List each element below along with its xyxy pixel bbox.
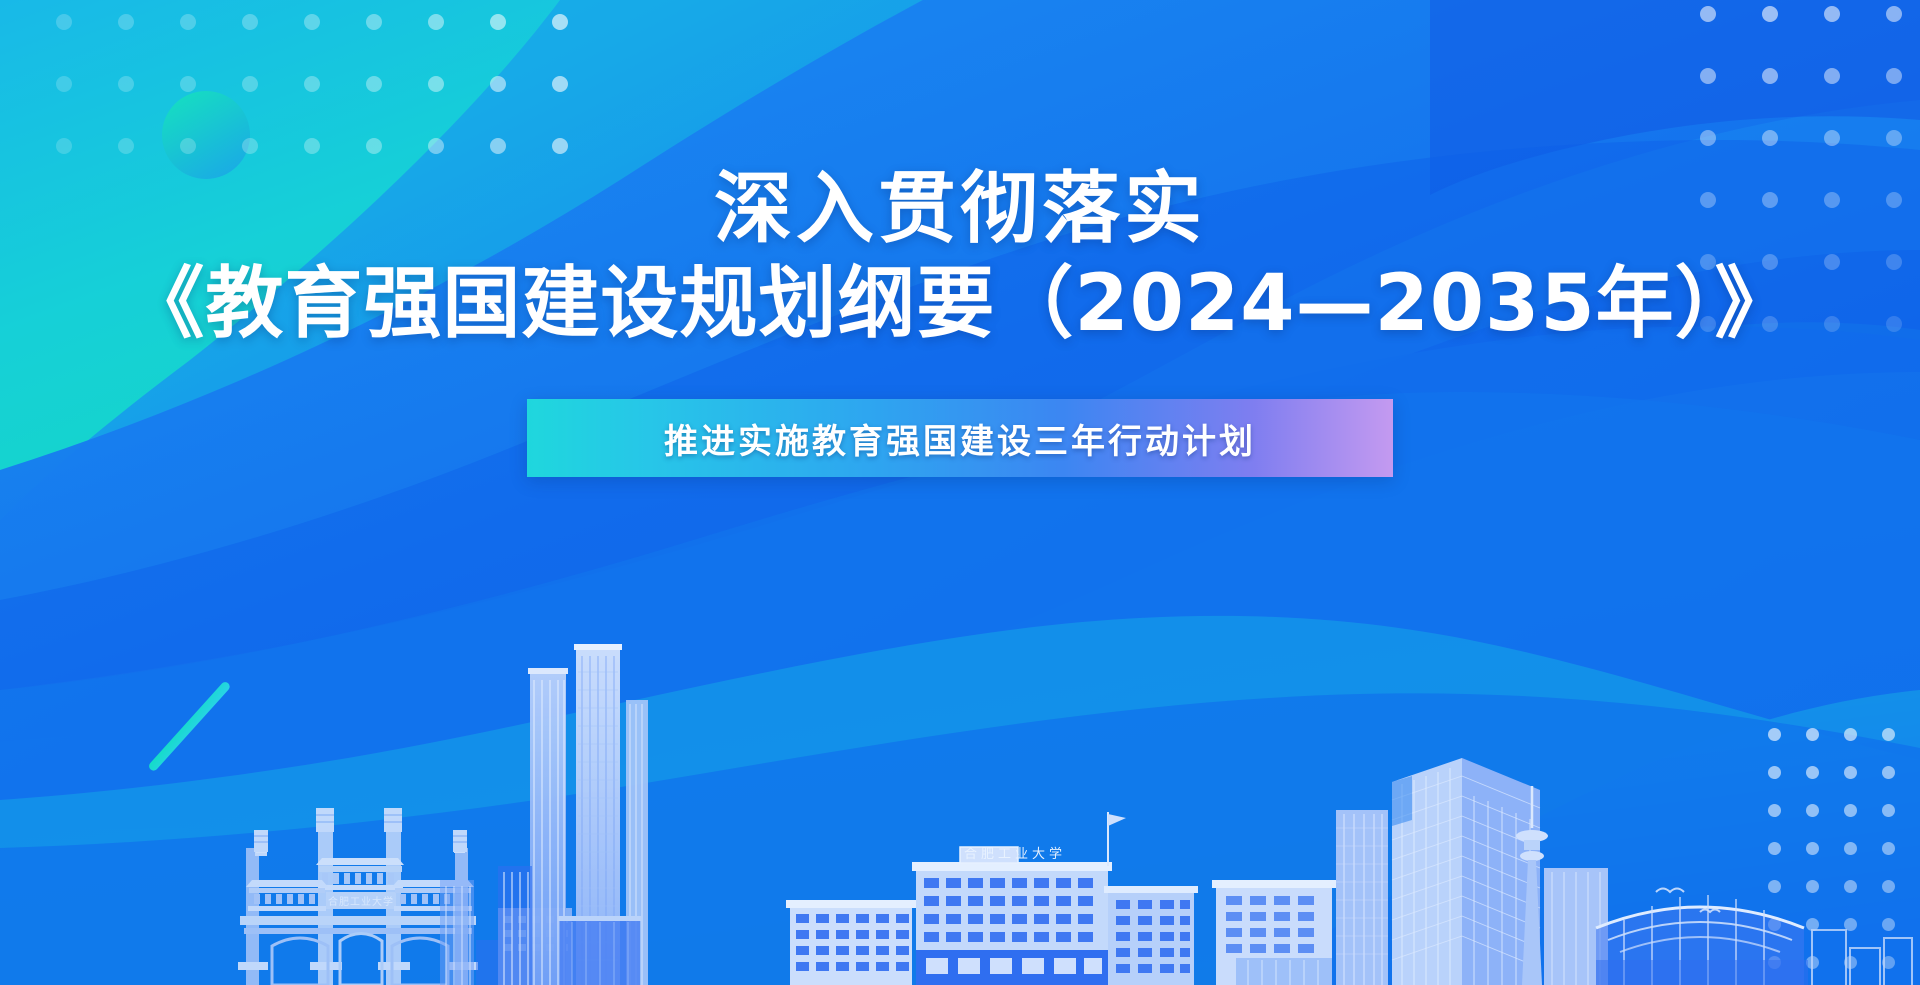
city-skyline: 合肥工业大学 — [0, 0, 1920, 985]
left-towers — [498, 644, 648, 985]
mid-right-low-buildings — [1212, 880, 1336, 985]
right-office-towers — [1336, 758, 1608, 985]
poster-canvas: 合肥工业大学 — [0, 0, 1920, 985]
archway-plaque-text: 合肥工业大学 — [328, 895, 394, 908]
campus-main-building: 合肥工业大学 — [786, 812, 1198, 985]
far-left-outline-buildings — [440, 880, 498, 985]
stadium — [1596, 895, 1808, 985]
far-right-outlines — [1812, 930, 1912, 985]
building-name-text: 合肥工业大学 — [964, 846, 1066, 862]
